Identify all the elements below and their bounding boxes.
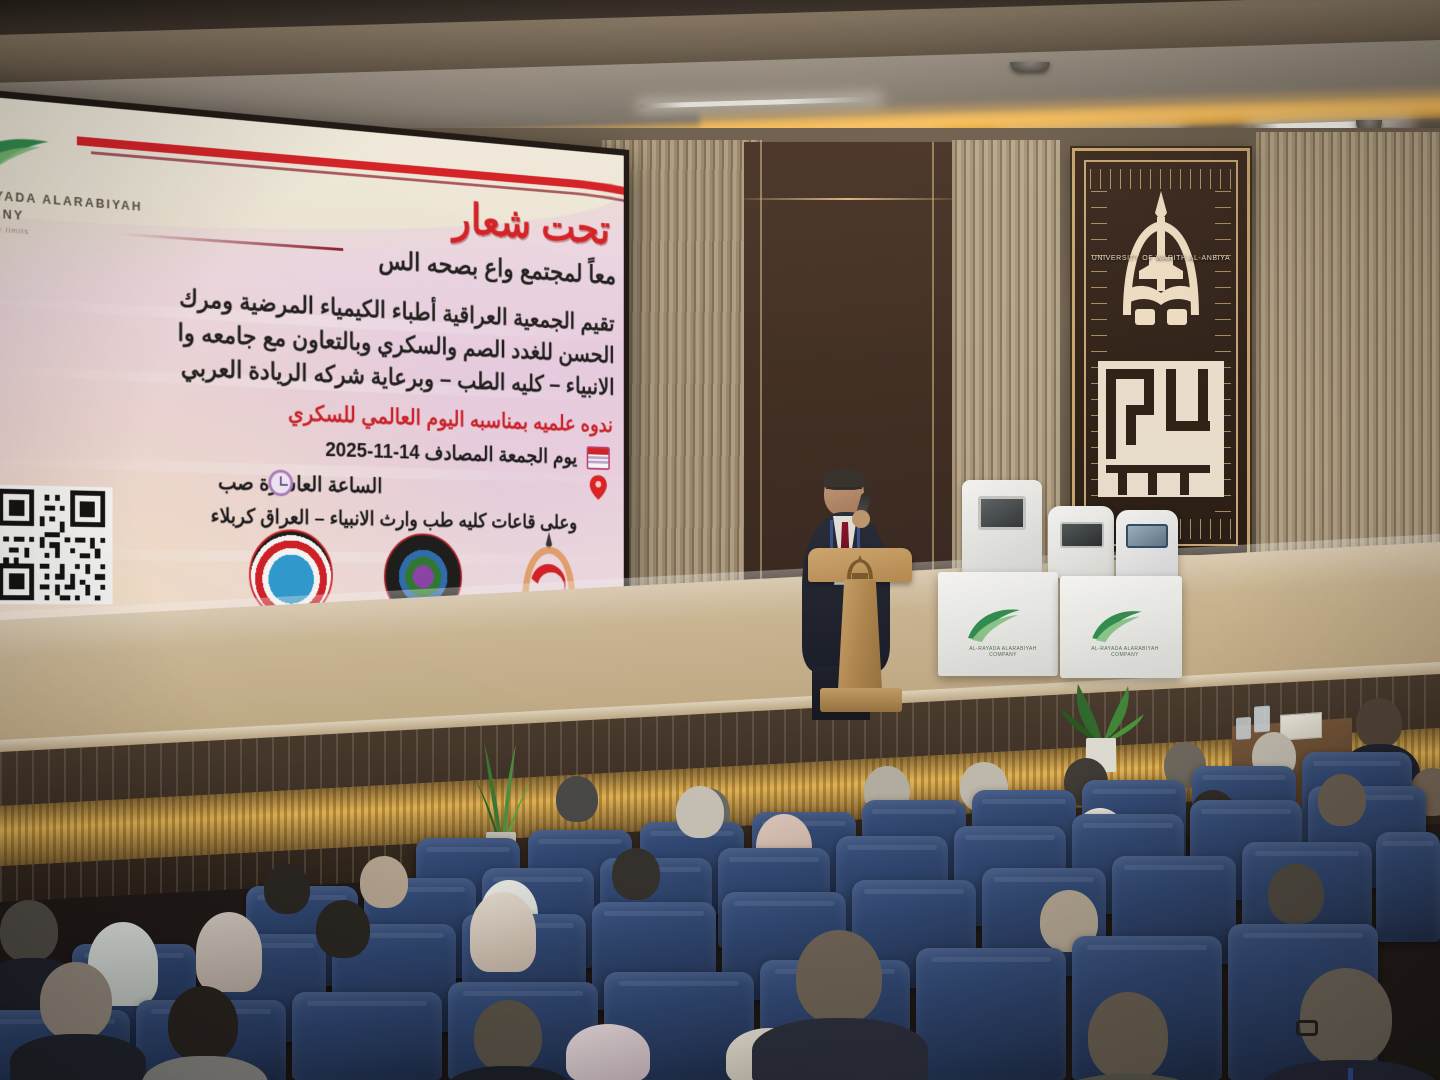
attendee-head (1268, 864, 1324, 924)
kufic-stroke (1198, 369, 1208, 421)
attendee-head (1088, 992, 1168, 1080)
kufic-calligraphy-panel (1098, 361, 1224, 497)
podium (808, 548, 912, 720)
water-glass (1254, 706, 1270, 733)
panel-gold-inlay (744, 198, 952, 200)
attendee-head (168, 986, 238, 1062)
attendee-head (796, 930, 882, 1024)
map-pin-icon (590, 475, 607, 500)
cabinet-logo-text: AL-RAYADA ALARABIYAHCOMPANY (958, 646, 1048, 658)
analyzer-screen[interactable] (978, 496, 1026, 530)
clock-icon (268, 469, 293, 496)
attendee-headscarf (196, 912, 262, 992)
attendee-headscarf (566, 1024, 650, 1080)
laboratory-analyzers: AL-RAYADA ALARABIYAHCOMPANY AL-RAYADA AL… (932, 480, 1186, 686)
kufic-stroke (1166, 421, 1210, 431)
cabinet-logo-text: AL-RAYADA ALARABIYAHCOMPANY (1080, 646, 1170, 658)
attendee-torso (752, 1018, 928, 1080)
university-arch-logo-icon (1105, 187, 1217, 337)
auditorium-photo: UNIVERSITY OF WARITH AL-ANBIYA (0, 0, 1440, 1080)
attendee-head (316, 900, 370, 958)
attendee-glasses-icon (1296, 1020, 1318, 1036)
analyzer-unit-large (962, 480, 1042, 572)
equipment-cabinet-left: AL-RAYADA ALARABIYAHCOMPANY (938, 572, 1058, 676)
attendee-head (1318, 774, 1366, 826)
analyzer-screen[interactable] (1126, 524, 1168, 548)
calendar-icon (587, 446, 610, 470)
attendee-head (556, 776, 598, 822)
podium-column (838, 580, 882, 690)
attendee-torso (10, 1034, 146, 1080)
analyzer-unit-mid (1048, 506, 1114, 578)
analyzer-screen[interactable] (1060, 522, 1104, 548)
ceiling-speaker-icon (1010, 62, 1050, 72)
attendee-head (0, 900, 58, 962)
podium-base (820, 688, 902, 712)
attendee-head (1356, 698, 1402, 748)
attendee-head (1300, 968, 1392, 1066)
emblem-diamond-border-top (1087, 169, 1235, 189)
podium-emblem-icon (843, 554, 877, 580)
speaker-hand (852, 510, 870, 528)
potted-plant-aisle (1052, 662, 1148, 772)
kufic-stroke (1106, 465, 1210, 473)
attendee-head (264, 864, 310, 914)
auditorium-seat[interactable] (1376, 832, 1440, 942)
green-leaf-icon (964, 604, 1024, 644)
green-leaf-icon (0, 128, 52, 189)
attendee-head (612, 848, 660, 900)
snake-plant-stage (462, 728, 540, 846)
kufic-stroke (1106, 369, 1116, 459)
green-leaf-icon (1088, 606, 1146, 644)
emblem-caption-text: UNIVERSITY OF WARITH AL-ANBIYA (1075, 255, 1247, 262)
attendee-head (360, 856, 408, 908)
water-glass (1236, 717, 1251, 740)
attendee-head (40, 962, 112, 1040)
qr-code-icon[interactable] (0, 484, 113, 604)
speaker-glasses-icon (826, 487, 862, 494)
auditorium-seat[interactable] (916, 948, 1066, 1080)
attendee-headscarf (470, 892, 536, 972)
auditorium-seat[interactable] (292, 992, 442, 1080)
attendee-head (474, 1000, 542, 1072)
attendee-lanyard (1348, 1068, 1392, 1080)
analyzer-unit-right (1116, 510, 1178, 578)
kufic-stroke (1126, 405, 1136, 445)
presentation-slide: AL-RAYADA ALARABIYAH COMPANY reaching ou… (0, 96, 624, 666)
attendee-head (676, 786, 724, 838)
